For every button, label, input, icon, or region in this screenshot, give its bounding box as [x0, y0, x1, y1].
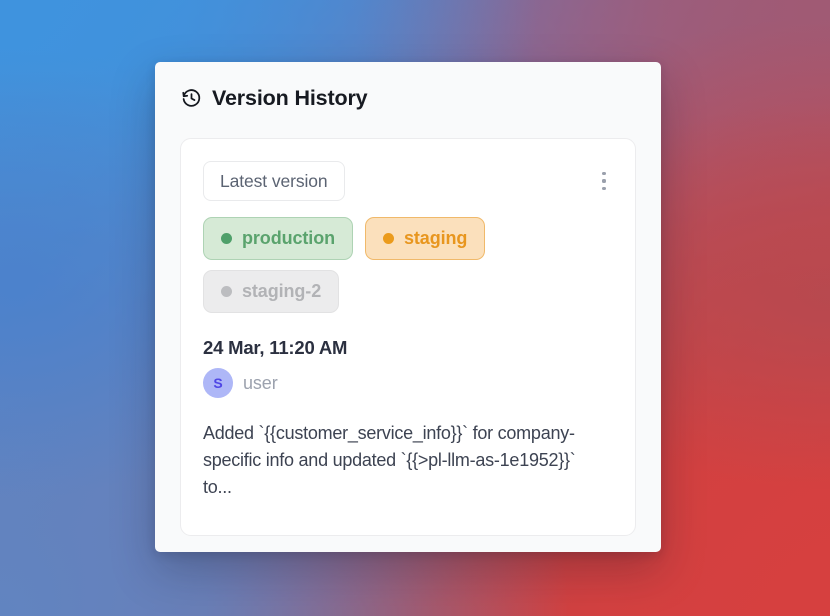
status-badge-label: staging-2 — [242, 281, 321, 302]
version-meta: 24 Mar, 11:20 AM S user — [181, 313, 635, 398]
status-badge-label: staging — [404, 228, 467, 249]
kebab-dot — [602, 172, 605, 175]
kebab-dot — [602, 179, 605, 182]
author-name: user — [243, 373, 278, 394]
environment-badges: production staging staging-2 — [181, 201, 511, 313]
version-description: Added `{{customer_service_info}}` for co… — [181, 398, 611, 501]
card-header: Version History — [155, 62, 661, 110]
version-author: S user — [203, 368, 613, 398]
status-dot-icon — [221, 233, 232, 244]
kebab-dot — [602, 187, 605, 190]
status-badge-label: production — [242, 228, 335, 249]
latest-version-chip[interactable]: Latest version — [203, 161, 345, 201]
panel-top-row: Latest version — [181, 139, 635, 201]
version-history-card: Version History Latest version productio… — [155, 62, 661, 552]
status-badge-production[interactable]: production — [203, 217, 353, 260]
version-entry-panel: Latest version production staging stagin… — [180, 138, 636, 536]
page-title: Version History — [212, 88, 367, 110]
status-dot-icon — [383, 233, 394, 244]
status-badge-staging-2[interactable]: staging-2 — [203, 270, 339, 313]
status-dot-icon — [221, 286, 232, 297]
clock-history-icon — [181, 88, 202, 109]
kebab-menu-icon[interactable] — [593, 167, 615, 195]
status-badge-staging[interactable]: staging — [365, 217, 485, 260]
avatar: S — [203, 368, 233, 398]
version-timestamp: 24 Mar, 11:20 AM — [203, 337, 613, 359]
